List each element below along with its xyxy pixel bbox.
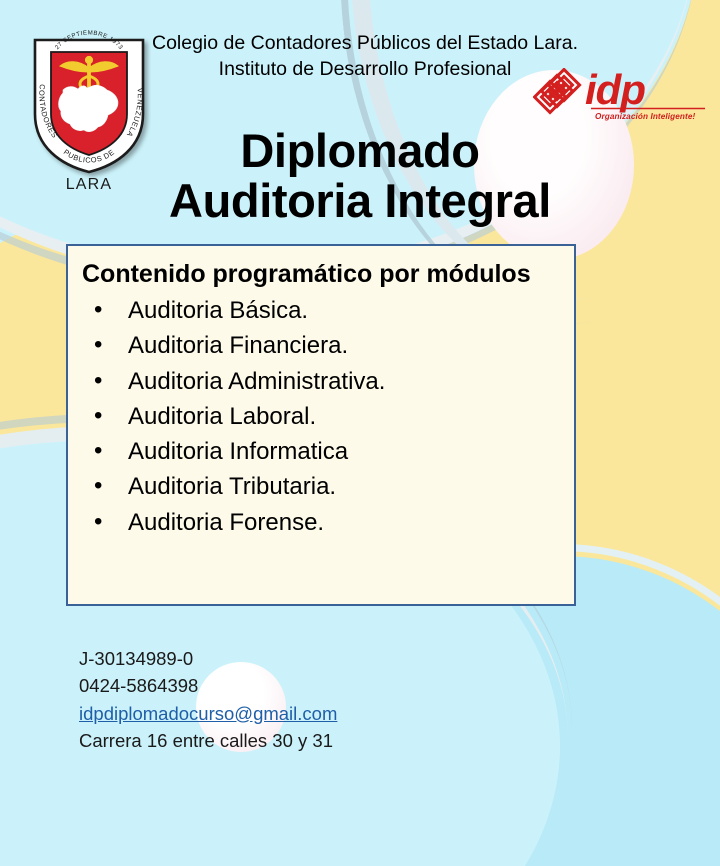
idp-wordmark: idp	[585, 68, 645, 113]
module-label: Auditoria Forense.	[128, 509, 324, 536]
module-label: Auditoria Laboral.	[128, 403, 316, 430]
idp-diamond-icon	[534, 69, 579, 112]
svg-text:LARA: LARA	[66, 176, 113, 193]
bullet-icon: •	[94, 292, 102, 327]
contact-address: Carrera 16 entre calles 30 y 31	[79, 727, 337, 754]
bullet-icon: •	[94, 398, 102, 433]
contact-email-link[interactable]: idpdiplomadocurso@gmail.com	[79, 700, 337, 727]
background-blue-bottom-right-inner	[360, 726, 720, 866]
list-item: • Auditoria Administrativa.	[82, 364, 560, 399]
module-label: Auditoria Financiera.	[128, 332, 348, 359]
flyer-canvas: 27 SEPTIEMBRE 1973 CONTADORES PUBLICOS D…	[0, 0, 720, 866]
contact-phone: 0424-5864398	[79, 672, 337, 699]
bullet-icon: •	[94, 433, 102, 468]
header-line-2: Instituto de Desarrollo Profesional	[150, 56, 580, 82]
bullet-icon: •	[94, 504, 102, 539]
list-item: • Auditoria Básica.	[82, 293, 560, 328]
contact-rif: J-30134989-0	[79, 645, 337, 672]
list-item: • Auditoria Tributaria.	[82, 469, 560, 504]
module-label: Auditoria Básica.	[128, 297, 308, 324]
idp-tagline: Organización Inteligente!	[595, 112, 695, 121]
module-label: Auditoria Tributaria.	[128, 473, 336, 500]
list-item: • Auditoria Financiera.	[82, 328, 560, 363]
organization-header: Colegio de Contadores Públicos del Estad…	[150, 30, 580, 82]
list-item: • Auditoria Laboral.	[82, 399, 560, 434]
contact-block: J-30134989-0 0424-5864398 idpdiplomadocu…	[79, 645, 337, 755]
program-content-box: Contenido programático por módulos • Aud…	[66, 244, 576, 606]
list-item: • Auditoria Informatica	[82, 434, 560, 469]
module-label: Auditoria Informatica	[128, 438, 348, 465]
bullet-icon: •	[94, 468, 102, 503]
bullet-icon: •	[94, 327, 102, 362]
module-list: • Auditoria Básica. • Auditoria Financie…	[82, 293, 560, 540]
module-label: Auditoria Administrativa.	[128, 368, 385, 395]
bullet-icon: •	[94, 363, 102, 398]
list-item: • Auditoria Forense.	[82, 505, 560, 540]
header-line-1: Colegio de Contadores Públicos del Estad…	[150, 30, 580, 56]
colegio-shield-logo: 27 SEPTIEMBRE 1973 CONTADORES PUBLICOS D…	[27, 22, 151, 194]
content-heading: Contenido programático por módulos	[82, 258, 560, 291]
